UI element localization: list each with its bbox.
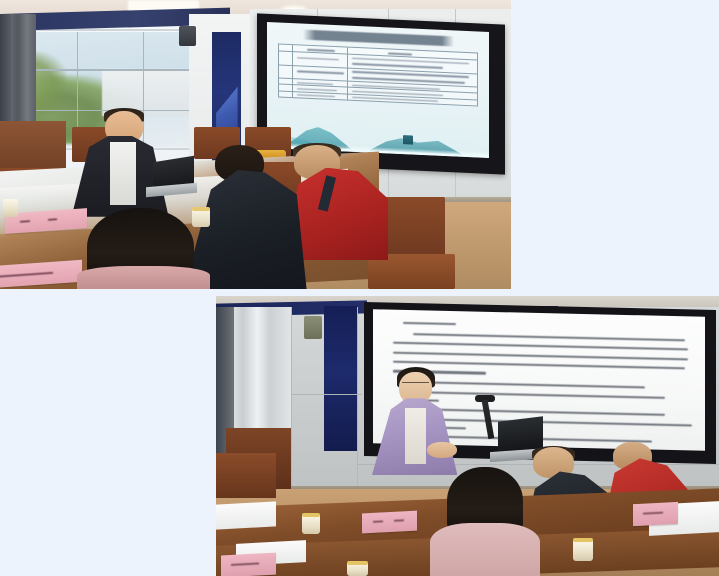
presenter-shirt <box>110 142 137 206</box>
paper-cup <box>302 514 320 534</box>
name-placard <box>221 552 276 576</box>
meeting-photo-bottom <box>216 296 719 576</box>
cup-lid <box>302 513 320 517</box>
attendee-front-sweater <box>430 523 541 576</box>
slide-text-line <box>393 351 688 360</box>
projector-screen <box>267 22 489 158</box>
slide-text-line <box>393 361 685 370</box>
name-placard <box>633 502 678 527</box>
wall-panel-seam <box>291 394 361 395</box>
slide-text-line <box>413 408 665 416</box>
paper-cup <box>573 540 593 561</box>
slide-text-line <box>413 391 665 399</box>
pagoda-icon <box>403 135 413 145</box>
attendee-front-top <box>77 266 210 289</box>
glasses-icon <box>402 382 429 388</box>
slide-text-line <box>413 381 645 388</box>
slide-table <box>278 44 478 107</box>
meeting-photo-top <box>0 0 511 289</box>
paper-cup <box>3 199 18 216</box>
wall-panel-seam <box>357 307 358 486</box>
paper-cup <box>192 208 210 227</box>
cup-lid <box>347 561 368 565</box>
slide-text-line <box>393 342 688 351</box>
document-page <box>0 0 719 576</box>
wall-panel-seam <box>291 307 292 486</box>
wall-speaker <box>179 26 196 46</box>
presenter-top <box>405 408 426 464</box>
slide-text-line <box>413 333 685 341</box>
wall-speaker <box>304 316 322 340</box>
cup-lid <box>573 538 593 542</box>
slide-title-text <box>303 30 454 47</box>
slide-text-line <box>413 417 692 425</box>
chair-back <box>216 453 276 498</box>
slide-heading-line <box>403 322 456 325</box>
name-placard <box>362 510 417 532</box>
paper-sheet <box>216 502 276 530</box>
cup-lid <box>192 207 210 211</box>
navy-pillar <box>324 306 357 452</box>
